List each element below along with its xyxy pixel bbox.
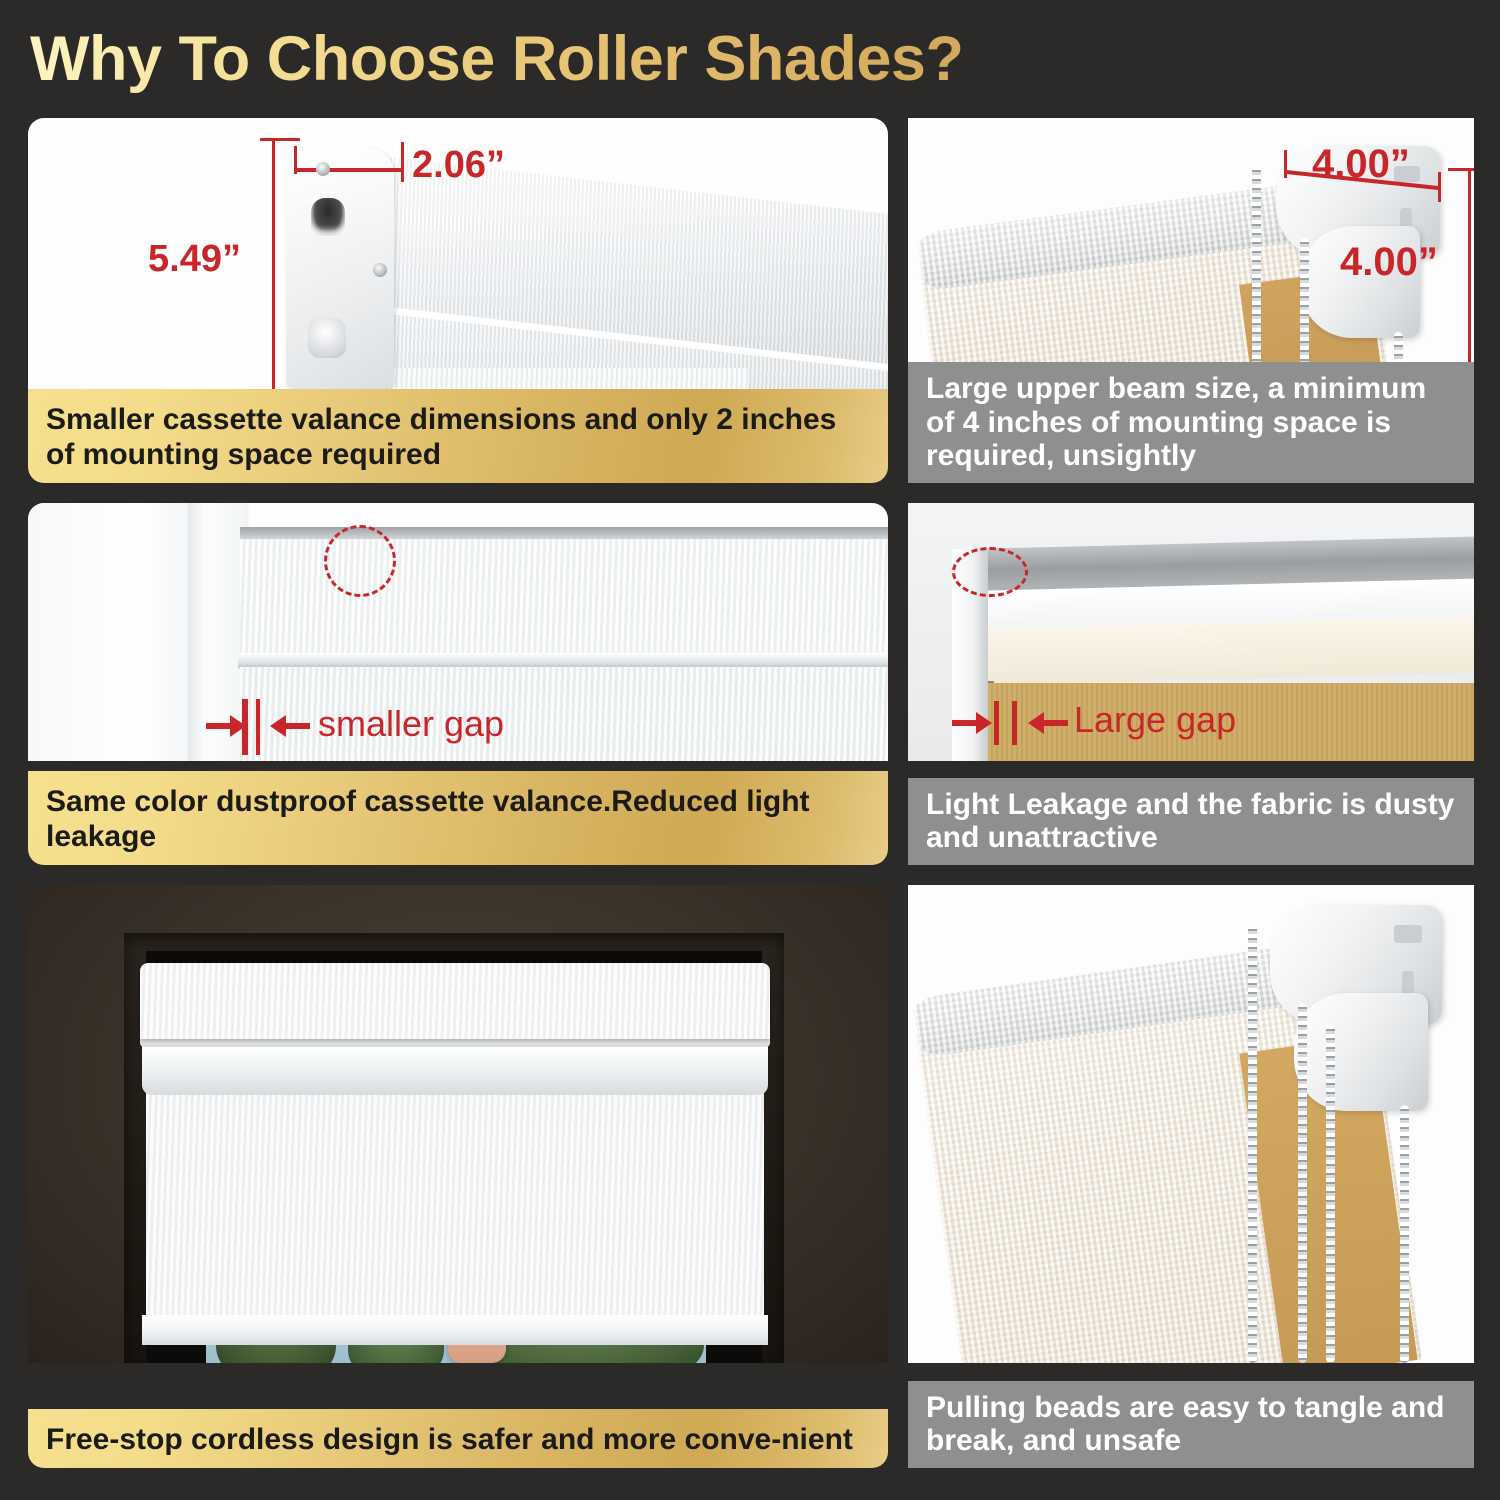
panel-pro-cordless: Free-stop cordless design is safer and m… [28,885,888,1468]
highlight-circle-gap [952,547,1028,597]
gap-marker-right [1012,701,1017,745]
caption-con-beads: Pulling beads are easy to tangle and bre… [908,1381,1474,1468]
gap-marker-right [256,699,260,755]
panel-pro-smaller-gap: smaller gap Same color dustproof cassett… [28,503,888,865]
dimension-label-width: 2.06” [412,144,505,187]
cassette-slot [311,198,345,236]
mounting-bracket-lower [1294,993,1428,1111]
shade-cassette-valance [140,963,770,1039]
shade-bottom-rail [142,1315,768,1345]
shade-fabric [146,1093,764,1321]
bead-chain-1 [1252,166,1261,390]
bead-chain-1 [1248,925,1257,1363]
photo-cassette-valance: 2.06” 5.49” [28,118,888,390]
dimension-label-beam-width: 4.00” [1312,142,1410,187]
arrow-right-icon [206,713,246,739]
bracket-slot-a [1394,925,1422,943]
infographic-root: Why To Choose Roller Shades? 2.06” 5.49”… [0,0,1500,1500]
panel-con-beam-size: 4.00” 4.00” Large upper beam size, a min… [908,118,1474,483]
photo-beam-bracket: 4.00” 4.00” [908,118,1474,390]
dim-tick-400v-top [1448,168,1474,171]
photo-bead-chains [908,885,1474,1363]
photo-large-gap: Large gap [908,503,1474,761]
photo-smaller-gap: smaller gap [28,503,888,761]
dim-tick-400h-left [1284,150,1287,178]
dim-tick-206-right [401,142,404,182]
dim-tick-549-top [260,138,300,141]
caption-pro-smaller-gap: Same color dustproof cassette valance.Re… [28,771,888,865]
bead-chain-4 [1400,1105,1409,1363]
highlight-circle-gap [324,525,396,597]
panel-con-large-gap: Large gap Light Leakage and the fabric i… [908,503,1474,865]
shade-roll [142,1045,768,1095]
arrow-right-icon [952,710,992,736]
panel-pro-cassette-size: 2.06” 5.49” Smaller cassette valance dim… [28,118,888,483]
dim-line-206-horizontal [296,168,404,172]
caption-pro-cordless: Free-stop cordless design is safer and m… [28,1409,888,1468]
page-title: Why To Choose Roller Shades? [30,20,1130,98]
gap-marker-left [994,701,999,745]
bead-chain-3 [1326,1025,1335,1363]
gap-callout-label: smaller gap [318,703,504,745]
dimension-label-beam-height: 4.00” [1340,240,1438,285]
dim-tick-400h-right [1438,172,1441,202]
photo-room-window [28,885,888,1363]
cassette-screw-mid [373,263,387,277]
dim-line-549-vertical [272,138,275,390]
dim-tick-206-left [294,146,297,174]
arrow-left-icon [266,713,310,739]
arrow-left-icon [1024,710,1068,736]
bead-chain-2 [1298,1003,1307,1363]
cassette-screw-top [316,162,330,176]
panel-con-beads: Pulling beads are easy to tangle and bre… [908,885,1474,1468]
gap-callout-label: Large gap [1074,699,1236,741]
dimension-label-height: 5.49” [148,238,241,281]
cassette-clip [308,318,346,358]
caption-con-beam-size: Large upper beam size, a minimum of 4 in… [908,362,1474,483]
dim-line-400-vertical [1468,168,1471,368]
caption-con-large-gap: Light Leakage and the fabric is dusty an… [908,778,1474,865]
caption-pro-cassette-size: Smaller cassette valance dimensions and … [28,389,888,483]
